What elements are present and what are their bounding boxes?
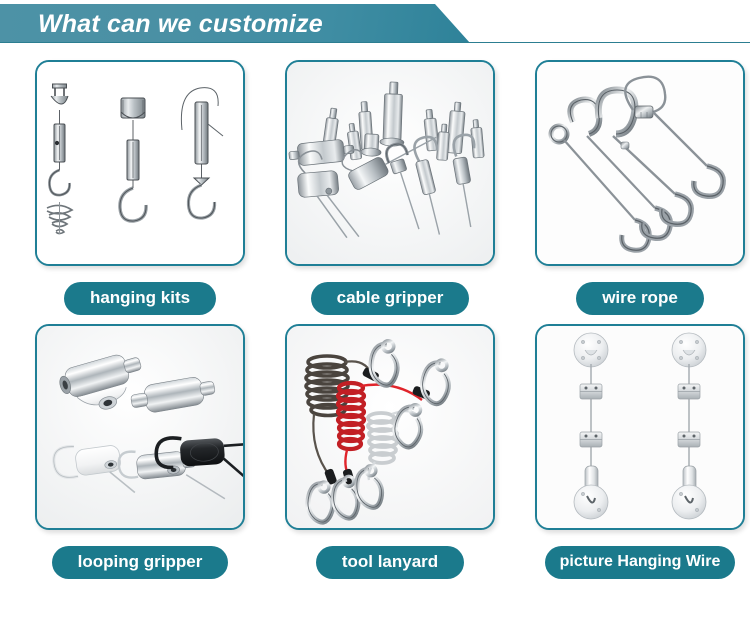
header-divider-rule — [0, 42, 750, 43]
wire-rope-slings-photo — [537, 62, 743, 264]
category-cell-picture-hanging-wire[interactable]: picture Hanging Wire — [530, 324, 750, 579]
category-label-tool-lanyard[interactable]: tool lanyard — [316, 546, 464, 579]
page-header: What can we customize — [0, 4, 750, 43]
category-card-cable-gripper[interactable] — [285, 60, 495, 266]
category-label-wire-rope[interactable]: wire rope — [576, 282, 704, 315]
grid-row-1: hanging kits — [0, 60, 750, 315]
category-card-tool-lanyard[interactable] — [285, 324, 495, 530]
picture-hanging-wire-assemblies-photo — [537, 326, 743, 528]
category-label-cable-gripper[interactable]: cable gripper — [311, 282, 470, 315]
category-card-looping-gripper[interactable] — [35, 324, 245, 530]
category-label-picture-hanging-wire[interactable]: picture Hanging Wire — [545, 546, 736, 579]
category-card-hanging-kits[interactable] — [35, 60, 245, 266]
category-cell-wire-rope[interactable]: wire rope — [530, 60, 750, 315]
category-card-wire-rope[interactable] — [535, 60, 745, 266]
category-cell-looping-gripper[interactable]: looping gripper — [30, 324, 250, 579]
hanging-kit-assemblies-illustration — [37, 62, 243, 264]
category-cell-cable-gripper[interactable]: cable gripper — [280, 60, 500, 315]
category-card-picture-hanging-wire[interactable] — [535, 324, 745, 530]
category-cell-hanging-kits[interactable]: hanging kits — [30, 60, 250, 315]
category-label-looping-gripper[interactable]: looping gripper — [52, 546, 229, 579]
page-title: What can we customize — [38, 4, 323, 43]
category-label-hanging-kits[interactable]: hanging kits — [64, 282, 216, 315]
looping-gripper-bodies-photo — [37, 326, 243, 528]
category-cell-tool-lanyard[interactable]: tool lanyard — [280, 324, 500, 579]
product-category-grid: hanging kits — [0, 60, 750, 579]
coiled-tool-lanyards-photo — [287, 326, 493, 528]
cable-gripper-parts-photo — [287, 62, 493, 264]
grid-row-2: looping gripper — [0, 324, 750, 579]
